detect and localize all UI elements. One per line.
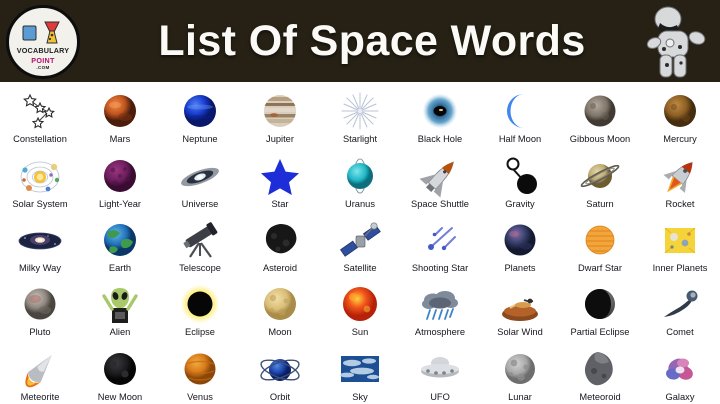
meteorite-icon xyxy=(18,349,62,391)
vocabulary-point-logo: VOCABULARY POINT .COM xyxy=(6,5,80,79)
lunar-icon xyxy=(498,349,542,391)
word-label: Star xyxy=(271,199,288,209)
word-label: Planets xyxy=(504,263,535,273)
word-cell[interactable]: Mars xyxy=(80,82,160,146)
comet-icon xyxy=(658,284,702,326)
word-label: Asteroid xyxy=(263,263,297,273)
word-label: Inner Planets xyxy=(653,263,708,273)
word-cell[interactable]: Asteroid xyxy=(240,211,320,275)
word-cell[interactable]: Rocket xyxy=(640,146,720,210)
gravity-icon xyxy=(498,156,542,198)
astronaut-icon xyxy=(640,3,714,81)
word-cell[interactable]: Telescope xyxy=(160,211,240,275)
word-label: Eclipse xyxy=(185,327,215,337)
venus-planet-icon xyxy=(178,349,222,391)
word-cell[interactable]: Moon xyxy=(240,275,320,339)
constellation-icon xyxy=(18,91,62,133)
uranus-planet-icon xyxy=(338,156,382,198)
mercury-planet-icon xyxy=(658,91,702,133)
word-label: Alien xyxy=(110,327,131,337)
word-label: Venus xyxy=(187,392,213,402)
word-cell[interactable]: Partial Eclipse xyxy=(560,275,640,339)
word-cell[interactable]: Dwarf Star xyxy=(560,211,640,275)
word-cell[interactable]: Orbit xyxy=(240,340,320,404)
eclipse-icon xyxy=(178,284,222,326)
space-shuttle-icon xyxy=(418,156,462,198)
orbit-icon xyxy=(258,349,302,391)
planets-icon xyxy=(498,220,542,262)
word-cell[interactable]: Half Moon xyxy=(480,82,560,146)
word-cell[interactable]: Gravity xyxy=(480,146,560,210)
half-moon-icon xyxy=(498,91,542,133)
word-cell[interactable]: UFO xyxy=(400,340,480,404)
word-label: Earth xyxy=(109,263,131,273)
word-label: Meteorite xyxy=(21,392,60,402)
logo-art-icon xyxy=(9,14,80,48)
word-grid: Constellation Mars Neptune xyxy=(0,82,720,404)
word-cell[interactable]: Mercury xyxy=(640,82,720,146)
word-label: Telescope xyxy=(179,263,221,273)
word-label: Shooting Star xyxy=(412,263,468,273)
word-cell[interactable]: Earth xyxy=(80,211,160,275)
solar-system-icon xyxy=(18,156,62,198)
word-label: Black Hole xyxy=(418,134,462,144)
mars-planet-icon xyxy=(98,91,142,133)
word-cell[interactable]: Galaxy xyxy=(640,340,720,404)
asteroid-icon xyxy=(258,220,302,262)
word-cell[interactable]: Universe xyxy=(160,146,240,210)
word-label: Meteoroid xyxy=(579,392,620,402)
logo-line1: VOCABULARY xyxy=(17,47,69,54)
word-label: Galaxy xyxy=(666,392,695,402)
word-cell[interactable]: Sun xyxy=(320,275,400,339)
word-label: Atmosphere xyxy=(415,327,465,337)
galaxy-icon xyxy=(658,349,702,391)
word-label: Solar Wind xyxy=(497,327,542,337)
word-cell[interactable]: Neptune xyxy=(160,82,240,146)
word-label: Comet xyxy=(666,327,693,337)
saturn-planet-icon xyxy=(578,156,622,198)
logo-line3: .COM xyxy=(36,66,49,71)
word-label: Saturn xyxy=(586,199,613,209)
word-cell[interactable]: Lunar xyxy=(480,340,560,404)
rocket-icon xyxy=(658,156,702,198)
word-label: Sun xyxy=(352,327,369,337)
moon-icon xyxy=(258,284,302,326)
word-cell[interactable]: Pluto xyxy=(0,275,80,339)
partial-eclipse-icon xyxy=(578,284,622,326)
word-label: Satellite xyxy=(343,263,376,273)
word-cell[interactable]: Starlight xyxy=(320,82,400,146)
light-year-icon xyxy=(98,156,142,198)
word-label: Jupiter xyxy=(266,134,294,144)
word-cell[interactable]: Inner Planets xyxy=(640,211,720,275)
page-title: List Of Space Words xyxy=(134,17,585,66)
space-words-poster: VOCABULARY POINT .COM List Of Space Word… xyxy=(0,0,720,404)
poster-header: VOCABULARY POINT .COM List Of Space Word… xyxy=(0,0,720,82)
word-label: Partial Eclipse xyxy=(571,327,630,337)
word-cell[interactable]: Jupiter xyxy=(240,82,320,146)
inner-planets-icon xyxy=(658,220,702,262)
word-cell[interactable]: Saturn xyxy=(560,146,640,210)
word-cell[interactable]: Satellite xyxy=(320,211,400,275)
word-label: Lunar xyxy=(508,392,532,402)
new-moon-icon xyxy=(98,349,142,391)
word-cell[interactable]: Solar System xyxy=(0,146,80,210)
atmosphere-icon xyxy=(418,284,462,326)
universe-icon xyxy=(178,156,222,198)
word-label: UFO xyxy=(430,392,450,402)
satellite-icon xyxy=(338,220,382,262)
word-cell[interactable]: Constellation xyxy=(0,82,80,146)
word-label: Mars xyxy=(110,134,131,144)
word-label: Sky xyxy=(352,392,368,402)
word-label: New Moon xyxy=(98,392,142,402)
word-cell[interactable]: Venus xyxy=(160,340,240,404)
word-label: Pluto xyxy=(29,327,50,337)
word-cell[interactable]: Space Shuttle xyxy=(400,146,480,210)
star-icon xyxy=(258,156,302,198)
sun-icon xyxy=(338,284,382,326)
starlight-icon xyxy=(338,91,382,133)
word-cell[interactable]: Gibbous Moon xyxy=(560,82,640,146)
word-label: Orbit xyxy=(270,392,290,402)
jupiter-planet-icon xyxy=(258,91,302,133)
word-label: Neptune xyxy=(182,134,217,144)
word-cell[interactable]: Planets xyxy=(480,211,560,275)
black-hole-icon xyxy=(418,91,462,133)
solar-wind-icon xyxy=(498,284,542,326)
pluto-planet-icon xyxy=(18,284,62,326)
meteoroid-icon xyxy=(578,349,622,391)
word-label: Space Shuttle xyxy=(411,199,469,209)
word-cell[interactable]: Black Hole xyxy=(400,82,480,146)
word-label: Light-Year xyxy=(99,199,141,209)
word-cell[interactable]: Milky Way xyxy=(0,211,80,275)
word-cell[interactable]: New Moon xyxy=(80,340,160,404)
word-label: Solar System xyxy=(12,199,67,209)
ufo-icon xyxy=(418,349,462,391)
word-label: Gibbous Moon xyxy=(570,134,630,144)
neptune-planet-icon xyxy=(178,91,222,133)
word-label: Dwarf Star xyxy=(578,263,622,273)
word-cell[interactable]: Solar Wind xyxy=(480,275,560,339)
word-cell[interactable]: Light-Year xyxy=(80,146,160,210)
gibbous-moon-icon xyxy=(578,91,622,133)
word-label: Starlight xyxy=(343,134,377,144)
word-cell[interactable]: Eclipse xyxy=(160,275,240,339)
word-cell[interactable]: Meteorite xyxy=(0,340,80,404)
word-label: Constellation xyxy=(13,134,67,144)
shooting-star-icon xyxy=(418,220,462,262)
word-label: Milky Way xyxy=(19,263,61,273)
dwarf-star-icon xyxy=(578,220,622,262)
logo-line2: POINT xyxy=(31,57,54,64)
milky-way-icon xyxy=(18,220,62,262)
word-label: Half Moon xyxy=(499,134,541,144)
alien-icon xyxy=(98,284,142,326)
word-label: Mercury xyxy=(663,134,697,144)
sky-icon xyxy=(338,349,382,391)
word-label: Moon xyxy=(268,327,291,337)
word-label: Gravity xyxy=(505,199,534,209)
word-cell[interactable]: Comet xyxy=(640,275,720,339)
word-cell[interactable]: Alien xyxy=(80,275,160,339)
earth-planet-icon xyxy=(98,220,142,262)
word-cell[interactable]: Atmosphere xyxy=(400,275,480,339)
word-label: Uranus xyxy=(345,199,375,209)
word-cell[interactable]: Shooting Star xyxy=(400,211,480,275)
word-cell[interactable]: Sky xyxy=(320,340,400,404)
word-cell[interactable]: Star xyxy=(240,146,320,210)
word-label: Universe xyxy=(182,199,219,209)
telescope-icon xyxy=(178,220,222,262)
word-label: Rocket xyxy=(666,199,695,209)
word-cell[interactable]: Meteoroid xyxy=(560,340,640,404)
word-cell[interactable]: Uranus xyxy=(320,146,400,210)
